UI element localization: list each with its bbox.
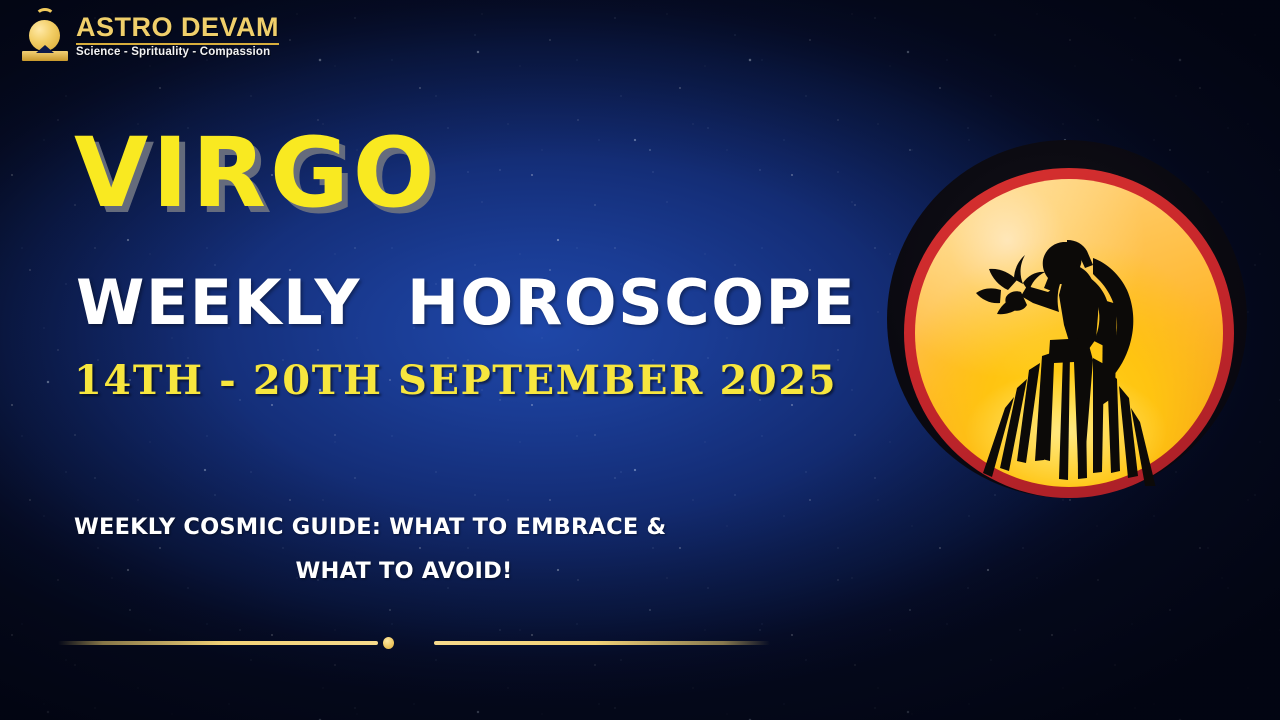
subtitle-line-1: WEEKLY COSMIC GUIDE: WHAT TO EMBRACE & — [74, 506, 734, 550]
page-title: WEEKLY HOROSCOPE — [76, 272, 856, 334]
zodiac-sign-title: VIRGO — [74, 125, 438, 221]
headline-block: VIRGO WEEKLY HOROSCOPE 14TH - 20TH SEPTE… — [0, 0, 1280, 720]
footer-divider — [58, 636, 770, 650]
date-range: 14TH - 20TH SEPTEMBER 2025 — [74, 361, 837, 401]
subtitle-text: WEEKLY COSMIC GUIDE: WHAT TO EMBRACE & W… — [74, 506, 734, 594]
brand-logo-text: ASTRO DEVAM Science - Sprituality - Comp… — [76, 13, 279, 59]
horoscope-poster: ASTRO DEVAM Science - Sprituality - Comp… — [0, 0, 1280, 720]
divider-bar-right — [434, 641, 770, 645]
logo-base-bar — [22, 51, 68, 61]
brand-divider — [76, 43, 279, 45]
brand-name: ASTRO DEVAM — [76, 13, 279, 41]
divider-bar-left — [58, 641, 378, 645]
subtitle-line-2: WHAT TO AVOID! — [74, 550, 734, 594]
brand-tagline: Science - Sprituality - Compassion — [76, 46, 279, 59]
diamond-dot-icon — [383, 637, 394, 649]
astro-devam-emblem-icon — [22, 6, 68, 66]
brand-logo[interactable]: ASTRO DEVAM Science - Sprituality - Comp… — [22, 6, 279, 66]
